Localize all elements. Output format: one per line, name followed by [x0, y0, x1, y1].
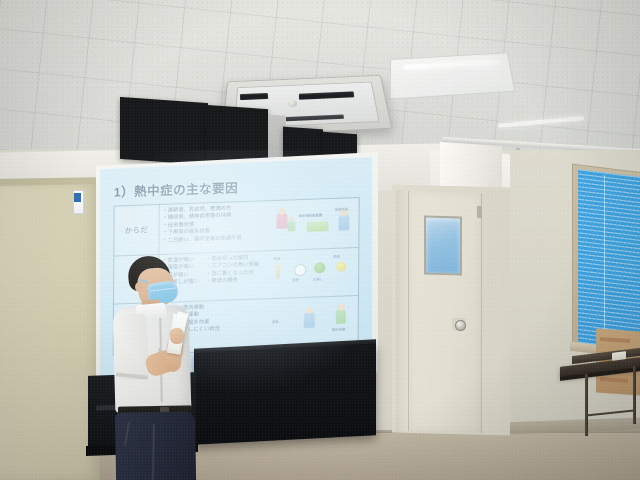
clock-icon [294, 264, 306, 276]
presenter-ear [135, 282, 143, 292]
presenter [108, 256, 212, 480]
slide-bullet: ・熱波の襲来 [206, 277, 259, 286]
podium-cabinet [194, 343, 376, 445]
slide-row-artwork: 高齢者・乳幼児 脱水状態 体調不良 [270, 198, 358, 250]
door-window-pane [424, 215, 462, 275]
thermometer-icon [276, 263, 280, 279]
left-wall-panel [0, 182, 100, 480]
slide-row-artwork: 気温 湿度 日差し 熱波 [270, 248, 358, 298]
outdoor-worker-icon [336, 308, 346, 323]
slide-row-artwork: 運動 屋外作業 [270, 296, 358, 347]
window-blinds[interactable] [578, 169, 640, 352]
art-label: 脱水状態 [309, 212, 323, 217]
door-jamb [396, 190, 408, 432]
table-leg [633, 366, 636, 424]
presenter-hand [169, 327, 185, 344]
photo-scene: 1）熱中症の主な要因 からだ ・高齢者、乳幼児、肥満の方 ・糖尿病、精神疾患等の… [0, 0, 640, 480]
elderly-person-icon [338, 214, 349, 230]
parent-child-icon [276, 213, 287, 229]
shirt-sleeve [113, 313, 149, 380]
art-label: 熱波 [333, 254, 340, 259]
item-on-table [612, 351, 626, 361]
art-label: 湿度 [292, 277, 299, 282]
sun-icon [336, 261, 346, 271]
blind-cord-icon[interactable] [604, 175, 605, 345]
sleeping-person-icon [306, 221, 328, 232]
door-knob-icon[interactable] [455, 320, 466, 331]
slide-row-bullets: ・高齢者、乳幼児、肥満の方 ・糖尿病、精神疾患等の持病 ・低栄養状態 ・下痢等の… [159, 201, 270, 254]
slide-title: 1）熱中症の主な要因 [114, 177, 239, 200]
art-label: 運動 [272, 319, 279, 324]
door-hinge-icon [477, 206, 482, 218]
slide-bullet: ・二日酔い、寝不足等の体調不良 [162, 235, 241, 245]
table-leg [585, 374, 588, 436]
art-label: 日差し [313, 276, 323, 281]
ac-vent-icon [240, 93, 268, 100]
child-icon [287, 220, 295, 231]
art-label: 体調不良 [335, 206, 349, 211]
art-label: 屋外作業 [332, 327, 346, 332]
slide-row-label: からだ [114, 205, 159, 256]
slide-table-row: からだ ・高齢者、乳幼児、肥満の方 ・糖尿病、精神疾患等の持病 ・低栄養状態 ・… [114, 198, 358, 257]
tree-icon [314, 262, 325, 273]
running-child-icon [304, 312, 315, 328]
wall-tag-blue-mark [74, 193, 81, 202]
ac-sensor-icon [288, 100, 297, 107]
art-label: 気温 [273, 256, 280, 261]
